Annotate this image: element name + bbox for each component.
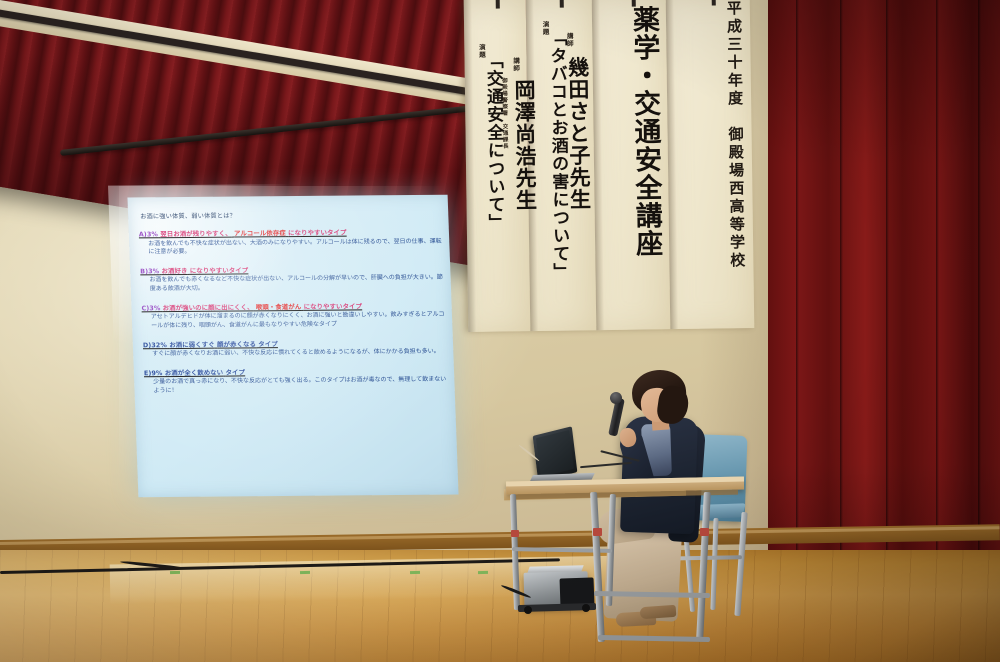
banner-pin xyxy=(712,0,716,6)
banner-pin xyxy=(496,0,500,9)
event-banner: 平成三十年度 御殿場西高等学校 薬学・交通安全講座 演題 「タバコとお酒の害につ… xyxy=(464,0,755,332)
banner-speaker-1: 幾田さと子先生 xyxy=(567,56,591,210)
lecture-hall-photo: 平成三十年度 御殿場西高等学校 薬学・交通安全講座 演題 「タバコとお酒の害につ… xyxy=(0,0,1000,662)
cable-tape-marker xyxy=(300,571,310,574)
presenter-shoe xyxy=(640,605,677,619)
banner-event-title: 薬学・交通安全講座 xyxy=(629,5,660,257)
screen-edge-falloff xyxy=(127,195,458,498)
banner-affiliation-2: 御殿場警察署 交通課長 xyxy=(500,77,507,149)
banner-strip-speaker-2: 演題 「交通安全について」 御殿場警察署 交通課長 講師 岡澤尚浩先生 xyxy=(464,0,531,332)
cart-wheel xyxy=(524,606,532,614)
banner-strip-title: 薬学・交通安全講座 xyxy=(592,0,671,330)
banner-topic-1: 「タバコとお酒の害について」 xyxy=(546,29,567,281)
projection-screen: お酒に強い体質、弱い体質とは？ A)3% 翌日お酒が残りやすく、 アルコール依存… xyxy=(127,195,458,498)
cable-tape-marker xyxy=(170,571,180,574)
banner-speaker-2: 岡澤尚浩先生 xyxy=(513,79,537,211)
banner-pin xyxy=(632,0,636,7)
table-leg-clamp xyxy=(700,528,709,536)
cable-tape-marker xyxy=(410,571,420,574)
banner-pin xyxy=(560,0,564,8)
table-leg-clamp xyxy=(593,528,602,536)
banner-speaker-label-1: 講師 xyxy=(565,33,572,48)
cart-wheel xyxy=(582,604,590,612)
banner-strip-school: 平成三十年度 御殿場西高等学校 xyxy=(666,0,755,329)
banner-school-text: 平成三十年度 御殿場西高等学校 xyxy=(726,0,746,270)
table-leg-clamp xyxy=(511,530,519,537)
laptop-display xyxy=(536,430,574,477)
banner-speaker-label-2: 講師 xyxy=(511,57,518,72)
cable-tape-marker xyxy=(478,571,488,574)
